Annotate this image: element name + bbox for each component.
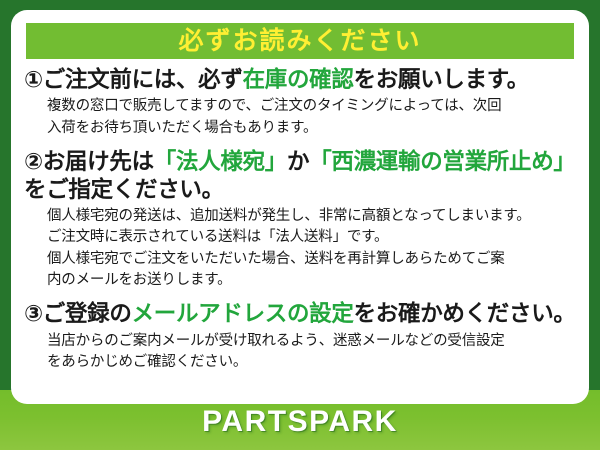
notice-banner: PARTSPARK 必ずお読みください ①ご注文前には、必ず在庫の確認をお願いし… [0, 0, 600, 450]
notice-item: ①ご注文前には、必ず在庫の確認をお願いします。複数の窓口で販売してますので、ご注… [11, 66, 589, 139]
notice-item-heading: ①ご注文前には、必ず在庫の確認をお願いします。 [24, 66, 577, 93]
notice-title: 必ずお読みください [178, 29, 421, 54]
notice-item-marker: ③ [24, 301, 43, 326]
notice-item-text: ご注文前には、必ず [43, 67, 243, 92]
notice-item-highlight: メールアドレスの設定 [132, 301, 354, 326]
notice-item-body: 当店からのご案内メールが受け取れるよう、迷惑メールなどの受信設定をあらかじめご確… [24, 331, 577, 374]
notice-item-highlight: 「西濃運輸の営業所止め」 [309, 149, 575, 174]
notice-item-body-line: ご注文時に表示されている送料は「法人送料」です。 [47, 227, 577, 248]
notice-item-body-line: 当店からのご案内メールが受け取れるよう、迷惑メールなどの受信設定 [47, 331, 577, 352]
notice-item-body-line: 入荷をお待ち頂いただく場合もあります。 [47, 118, 577, 139]
notice-item-body-line: をあらかじめご確認ください。 [47, 352, 577, 373]
notice-panel: 必ずお読みください ①ご注文前には、必ず在庫の確認をお願いします。複数の窓口で販… [11, 10, 589, 404]
notice-item-highlight: 「法人様宛」 [154, 149, 287, 174]
notice-item: ②お届け先は「法人様宛」か「西濃運輸の営業所止め」をご指定ください。個人様宅宛の… [11, 148, 589, 291]
notice-item-text: をお確かめください。 [354, 301, 576, 326]
notice-item-body-line: 複数の窓口で販売してますので、ご注文のタイミングによっては、次回 [47, 96, 577, 117]
notice-item: ③ご登録のメールアドレスの設定をお確かめください。当店からのご案内メールが受け取… [11, 300, 589, 373]
notice-item-heading: ②お届け先は「法人様宛」か「西濃運輸の営業所止め」をご指定ください。 [24, 148, 577, 203]
notice-item-text: をお願いします。 [354, 67, 529, 92]
notice-item-marker: ① [24, 67, 43, 92]
notice-item-heading: ③ご登録のメールアドレスの設定をお確かめください。 [24, 300, 577, 327]
notice-item-body: 複数の窓口で販売してますので、ご注文のタイミングによっては、次回入荷をお待ち頂い… [24, 96, 577, 139]
notice-item-list: ①ご注文前には、必ず在庫の確認をお願いします。複数の窓口で販売してますので、ご注… [11, 66, 589, 373]
notice-title-bar: 必ずお読みください [26, 23, 574, 59]
notice-item-body: 個人様宅宛の発送は、追加送料が発生し、非常に高額となってしまいます。ご注文時に表… [24, 206, 577, 291]
notice-item-text: か [287, 149, 309, 174]
notice-item-text: をご指定ください。 [24, 177, 224, 202]
brand-wordmark: PARTSPARK [202, 407, 398, 437]
notice-item-text: お届け先は [43, 149, 154, 174]
notice-item-text: ご登録の [43, 301, 132, 326]
notice-item-marker: ② [24, 149, 43, 174]
notice-item-highlight: 在庫の確認 [243, 67, 354, 92]
notice-item-body-line: 内のメールをお送りします。 [47, 270, 577, 291]
notice-item-body-line: 個人様宅宛でご注文をいただいた場合、送料を再計算しあらためてご案 [47, 249, 577, 270]
notice-item-body-line: 個人様宅宛の発送は、追加送料が発生し、非常に高額となってしまいます。 [47, 206, 577, 227]
